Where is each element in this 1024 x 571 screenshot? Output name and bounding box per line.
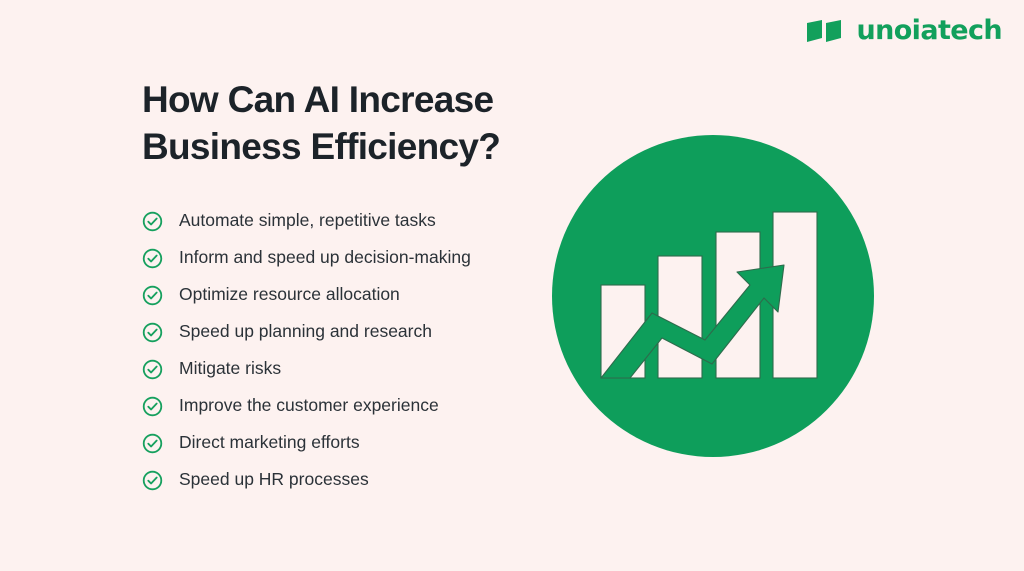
- slide-canvas: unoiatech How Can AI Increase Business E…: [0, 0, 1024, 571]
- check-circle-icon: [142, 396, 163, 417]
- list-item-label: Inform and speed up decision-making: [179, 249, 471, 267]
- list-item: Speed up HR processes: [142, 462, 562, 499]
- bar-2: [658, 256, 702, 378]
- list-item: Optimize resource allocation: [142, 277, 562, 314]
- list-item-label: Optimize resource allocation: [179, 286, 400, 304]
- check-circle-icon: [142, 359, 163, 380]
- growth-chart-illustration: [552, 135, 874, 457]
- content-column: How Can AI Increase Business Efficiency?…: [142, 76, 562, 499]
- list-item-label: Direct marketing efforts: [179, 434, 360, 452]
- list-item: Mitigate risks: [142, 351, 562, 388]
- list-item: Automate simple, repetitive tasks: [142, 203, 562, 240]
- check-circle-icon: [142, 248, 163, 269]
- double-flag-mark-icon: [807, 19, 845, 43]
- logo-wordmark: unoiatech: [856, 17, 1002, 44]
- page-title: How Can AI Increase Business Efficiency?: [142, 76, 562, 171]
- list-item: Inform and speed up decision-making: [142, 240, 562, 277]
- list-item-label: Speed up planning and research: [179, 323, 432, 341]
- list-item: Direct marketing efforts: [142, 425, 562, 462]
- benefits-list: Automate simple, repetitive tasks Inform…: [142, 203, 562, 499]
- check-circle-icon: [142, 285, 163, 306]
- list-item-label: Automate simple, repetitive tasks: [179, 212, 436, 230]
- list-item: Speed up planning and research: [142, 314, 562, 351]
- check-circle-icon: [142, 211, 163, 232]
- brand-logo[interactable]: unoiatech: [807, 17, 1002, 44]
- check-circle-icon: [142, 433, 163, 454]
- list-item: Improve the customer experience: [142, 388, 562, 425]
- list-item-label: Improve the customer experience: [179, 397, 439, 415]
- illustration-circle-background: [552, 135, 874, 457]
- list-item-label: Speed up HR processes: [179, 471, 369, 489]
- check-circle-icon: [142, 470, 163, 491]
- check-circle-icon: [142, 322, 163, 343]
- list-item-label: Mitigate risks: [179, 360, 281, 378]
